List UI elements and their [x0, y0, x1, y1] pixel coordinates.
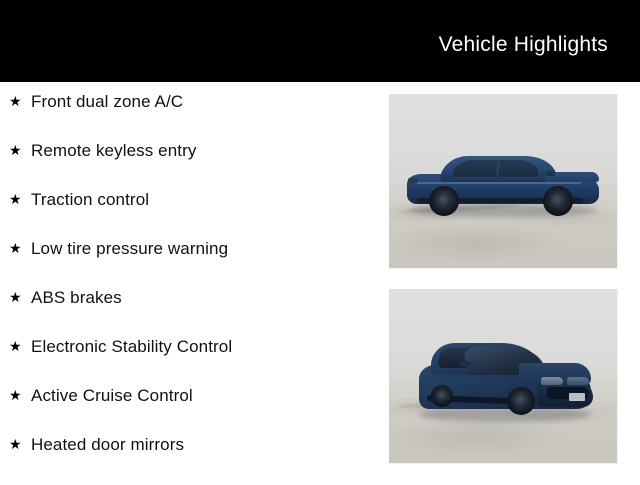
highlight-label: Low tire pressure warning	[25, 240, 228, 257]
star-bullet-icon: ★	[9, 192, 25, 206]
car-side-profile-illustration	[405, 152, 601, 218]
car-rear-wheel	[429, 186, 459, 216]
car-headlight-left	[541, 377, 563, 385]
car-rear-wheel	[431, 385, 453, 407]
car-side-mirror	[545, 171, 555, 176]
list-item: ★ Heated door mirrors	[0, 436, 380, 485]
highlight-label: Heated door mirrors	[25, 436, 184, 453]
vehicle-photo-column	[389, 94, 617, 462]
star-bullet-icon: ★	[9, 339, 25, 353]
list-item: ★ Electronic Stability Control	[0, 338, 380, 387]
list-item: ★ Traction control	[0, 191, 380, 240]
star-bullet-icon: ★	[9, 290, 25, 304]
car-shadow	[419, 407, 591, 422]
car-taillight	[408, 178, 418, 183]
list-item: ★ Active Cruise Control	[0, 387, 380, 436]
highlight-label: Traction control	[25, 191, 149, 208]
highlight-label: Electronic Stability Control	[25, 338, 232, 355]
car-front-wheel	[507, 387, 535, 415]
page-title: Vehicle Highlights	[439, 28, 608, 55]
list-item: ★ Remote keyless entry	[0, 142, 380, 191]
car-front-wheel	[543, 186, 573, 216]
car-license-plate	[569, 393, 585, 401]
list-item: ★ Front dual zone A/C	[0, 93, 380, 142]
highlight-label: Remote keyless entry	[25, 142, 196, 159]
star-bullet-icon: ★	[9, 241, 25, 255]
list-item: ★ Low tire pressure warning	[0, 240, 380, 289]
car-beltline	[417, 182, 581, 184]
car-headlight-right	[567, 377, 589, 385]
star-bullet-icon: ★	[9, 388, 25, 402]
highlight-label: Active Cruise Control	[25, 387, 193, 404]
star-bullet-icon: ★	[9, 143, 25, 157]
car-front-three-quarter-illustration	[413, 337, 595, 421]
vehicle-photo-front-three-quarter[interactable]	[389, 289, 618, 464]
star-bullet-icon: ★	[9, 437, 25, 451]
vehicle-photo-side-profile[interactable]	[389, 94, 618, 269]
star-bullet-icon: ★	[9, 94, 25, 108]
page-header: Vehicle Highlights	[0, 0, 640, 82]
list-item: ★ ABS brakes	[0, 289, 380, 338]
car-side-mirror	[459, 361, 471, 367]
highlight-label: ABS brakes	[25, 289, 122, 306]
vehicle-highlights-list: ★ Front dual zone A/C ★ Remote keyless e…	[0, 82, 380, 480]
highlight-label: Front dual zone A/C	[25, 93, 183, 110]
